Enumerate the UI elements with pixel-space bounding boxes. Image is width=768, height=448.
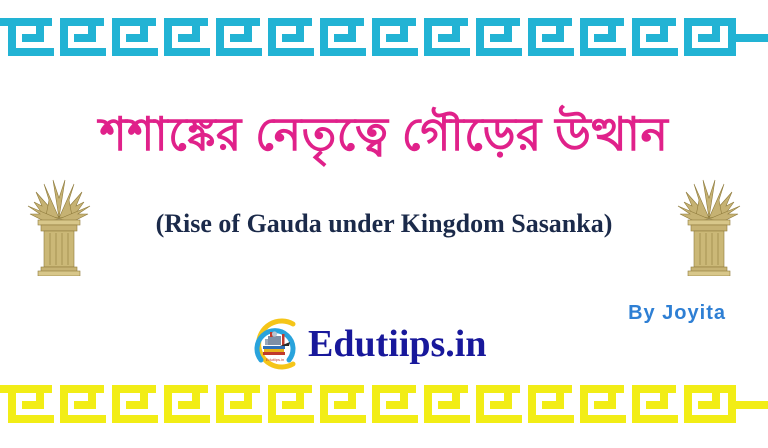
byline-author: By Joyita bbox=[628, 302, 726, 325]
page-title-bengali: শশাঙ্কের নেতৃত্বে গৌড়ের উত্থান bbox=[0, 96, 768, 172]
greek-key-meander-bottom bbox=[0, 385, 768, 431]
greek-key-meander-top bbox=[0, 18, 768, 64]
edutiips-emblem-icon: Edutiips.in bbox=[248, 317, 302, 371]
title-card: শশাঙ্কের নেতৃত্বে গৌড়ের উত্থান bbox=[0, 0, 768, 448]
emblem-caption: Edutiips.in bbox=[266, 357, 284, 362]
page-subtitle-english: (Rise of Gauda under Kingdom Sasanka) bbox=[0, 205, 768, 243]
brand-wordmark: Edutiips.in bbox=[308, 325, 487, 363]
brand-logo[interactable]: Edutiips.in Edutiips.in bbox=[248, 316, 487, 372]
